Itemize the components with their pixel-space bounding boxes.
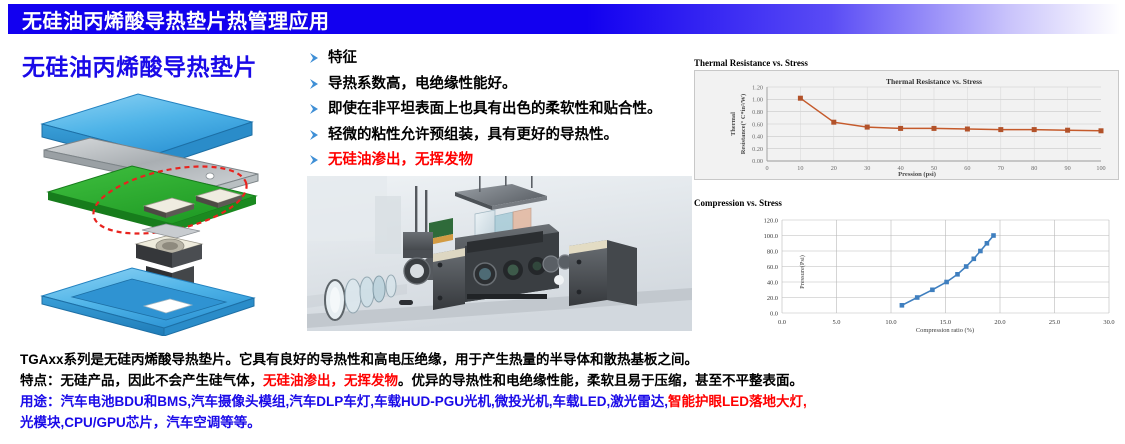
- feature-text: 即使在非平坦表面上也具有出色的柔软性和贴合性。: [328, 101, 662, 117]
- chart-caption: Thermal Resistance vs. Stress: [694, 58, 1119, 68]
- product-heading: 无硅油丙烯酸导热垫片: [22, 48, 292, 82]
- svg-text:20.0: 20.0: [767, 295, 778, 302]
- svg-text:10.0: 10.0: [885, 319, 896, 326]
- svg-text:1.00: 1.00: [752, 97, 763, 104]
- page-title: 无硅油丙烯酸导热垫片热管理应用: [22, 5, 330, 34]
- y-axis-label: Pressure(Psi): [799, 255, 806, 289]
- list-item: 轻微的粘性允许预组装，具有更好的导热性。: [308, 127, 688, 144]
- chevron-right-icon: [308, 102, 328, 118]
- svg-text:10: 10: [797, 165, 803, 172]
- svg-text:0.60: 0.60: [752, 121, 763, 128]
- svg-text:100: 100: [1096, 165, 1105, 172]
- list-item: 导热系数高，电绝缘性能好。: [308, 76, 688, 93]
- svg-text:30: 30: [864, 165, 870, 172]
- svg-text:1.20: 1.20: [752, 84, 763, 91]
- summary-line-1: TGAxx系列是无硅丙烯酸导热垫片。它具有良好的导热性和高电压绝缘，用于产生热量…: [20, 349, 1115, 370]
- x-axis-label: Compression ratio (%): [916, 327, 974, 334]
- optical-module-photo: [307, 176, 692, 331]
- svg-text:0.00: 0.00: [752, 158, 763, 165]
- summary-line-3-a: 用途：汽车电池BDU和BMS,汽车摄像头模组,汽车DLP车灯,车载HUD-PGU…: [20, 394, 668, 409]
- feature-text: 导热系数高，电绝缘性能好。: [328, 76, 517, 92]
- svg-text:120.0: 120.0: [764, 217, 778, 224]
- slide-title-bar: 无硅油丙烯酸导热垫片热管理应用: [8, 4, 1120, 34]
- svg-text:0: 0: [765, 165, 768, 172]
- list-item: 无硅油渗出，无挥发物: [308, 152, 688, 169]
- chevron-right-icon: [308, 128, 328, 144]
- summary-line-2-a: 特点：无硅产品，因此不会产生硅气体，: [20, 373, 263, 388]
- svg-text:0.0: 0.0: [778, 319, 786, 326]
- y-axis-label: Thermal: [730, 112, 737, 136]
- summary-line-2-b: 。优异的导热性和电绝缘性能，柔软且易于压缩，甚至不平整表面。: [398, 373, 803, 388]
- summary-line-2: 特点：无硅产品，因此不会产生硅气体，无硅油渗出，无挥发物。优异的导热性和电绝缘性…: [20, 370, 1115, 391]
- summary-line-3: 用途：汽车电池BDU和BMS,汽车摄像头模组,汽车DLP车灯,车载HUD-PGU…: [20, 391, 1115, 412]
- optical-module-svg: [307, 176, 692, 331]
- svg-text:60: 60: [964, 165, 970, 172]
- svg-text:70: 70: [998, 165, 1004, 172]
- feature-text: 特征: [328, 50, 357, 66]
- x-axis-label: Pression (psi): [898, 171, 936, 178]
- svg-text:20.0: 20.0: [994, 319, 1005, 326]
- blue-base-tray: [42, 268, 254, 336]
- svg-text:Resistance(° C*in²/W): Resistance(° C*in²/W): [740, 94, 747, 154]
- feature-text-highlight: 无硅油渗出，无挥发物: [328, 152, 473, 168]
- exploded-assembly-svg: [20, 88, 270, 336]
- list-item: 即使在非平坦表面上也具有出色的柔软性和贴合性。: [308, 101, 688, 118]
- summary-line-3-highlight: 智能护眼LED落地大灯,: [668, 394, 807, 409]
- title-divider: [8, 34, 1120, 36]
- svg-text:100.0: 100.0: [764, 233, 778, 240]
- chart-caption: Compression vs. Stress: [694, 198, 1119, 208]
- thermal-resistance-chart: Thermal Resistance vs. Stress: [694, 58, 1119, 180]
- list-item: 特征: [308, 50, 688, 67]
- chevron-right-icon: [308, 77, 328, 93]
- svg-text:90: 90: [1065, 165, 1071, 172]
- chevron-right-icon: [308, 51, 328, 67]
- svg-text:0.0: 0.0: [770, 310, 778, 317]
- svg-text:0.20: 0.20: [752, 146, 763, 153]
- svg-text:15.0: 15.0: [940, 319, 951, 326]
- svg-text:0.40: 0.40: [752, 134, 763, 141]
- compression-svg: 120.0 100.0 80.0 60.0 40.0 20.0 0.0 0.05…: [694, 210, 1117, 335]
- svg-text:60.0: 60.0: [767, 264, 778, 271]
- exploded-assembly-illustration: [20, 88, 270, 336]
- summary-line-2-highlight: 无硅油渗出，无挥发物: [263, 373, 398, 388]
- svg-text:30.0: 30.0: [1103, 319, 1114, 326]
- chart-panel: Thermal Resistance vs. Stress 1.20 1.00 …: [694, 70, 1119, 180]
- feature-list: 特征 导热系数高，电绝缘性能好。 即使在非平坦表面上也具有出色的柔软性和贴合性。…: [308, 50, 688, 178]
- svg-text:5.0: 5.0: [833, 319, 841, 326]
- svg-text:20: 20: [831, 165, 837, 172]
- summary-line-4: 光模块,CPU/GPU芯片，汽车空调等等。: [20, 412, 1115, 433]
- svg-text:80.0: 80.0: [767, 248, 778, 255]
- svg-text:40.0: 40.0: [767, 279, 778, 286]
- svg-text:0.80: 0.80: [752, 109, 763, 116]
- chevron-right-icon: [308, 153, 328, 169]
- summary-block: TGAxx系列是无硅丙烯酸导热垫片。它具有良好的导热性和高电压绝缘，用于产生热量…: [20, 349, 1115, 433]
- svg-text:80: 80: [1031, 165, 1037, 172]
- svg-text:25.0: 25.0: [1049, 319, 1060, 326]
- feature-text: 轻微的粘性允许预组装，具有更好的导热性。: [328, 127, 618, 143]
- chart-inner-title: Thermal Resistance vs. Stress: [886, 77, 982, 86]
- chart-panel: 120.0 100.0 80.0 60.0 40.0 20.0 0.0 0.05…: [694, 210, 1117, 335]
- thermal-resistance-svg: Thermal Resistance vs. Stress 1.20 1.00 …: [695, 71, 1118, 179]
- compression-chart: Compression vs. Stress: [694, 198, 1119, 335]
